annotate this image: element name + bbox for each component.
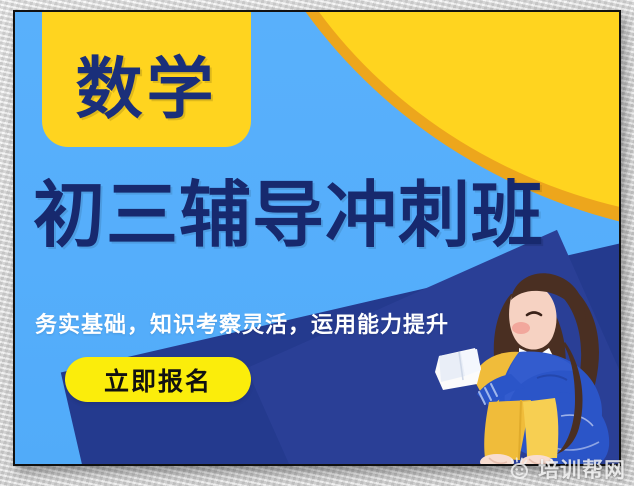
poster-canvas: 数学: [15, 12, 619, 464]
subject-chip: 数学: [42, 12, 251, 147]
smiley-sun-icon: [508, 457, 532, 481]
watermark: 培训帮网: [508, 454, 626, 484]
page-title: 初三辅导冲刺班: [33, 180, 611, 252]
enroll-now-button[interactable]: 立即报名: [65, 357, 251, 402]
girl-reading-illustration: [415, 252, 619, 464]
poster-frame: 数学: [13, 10, 621, 466]
subtitle-text: 务实基础，知识考察灵活，运用能力提升: [35, 307, 515, 339]
watermark-text: 培训帮网: [538, 454, 626, 484]
subject-chip-label: 数学: [76, 56, 218, 147]
page-root: 数学: [0, 0, 634, 486]
